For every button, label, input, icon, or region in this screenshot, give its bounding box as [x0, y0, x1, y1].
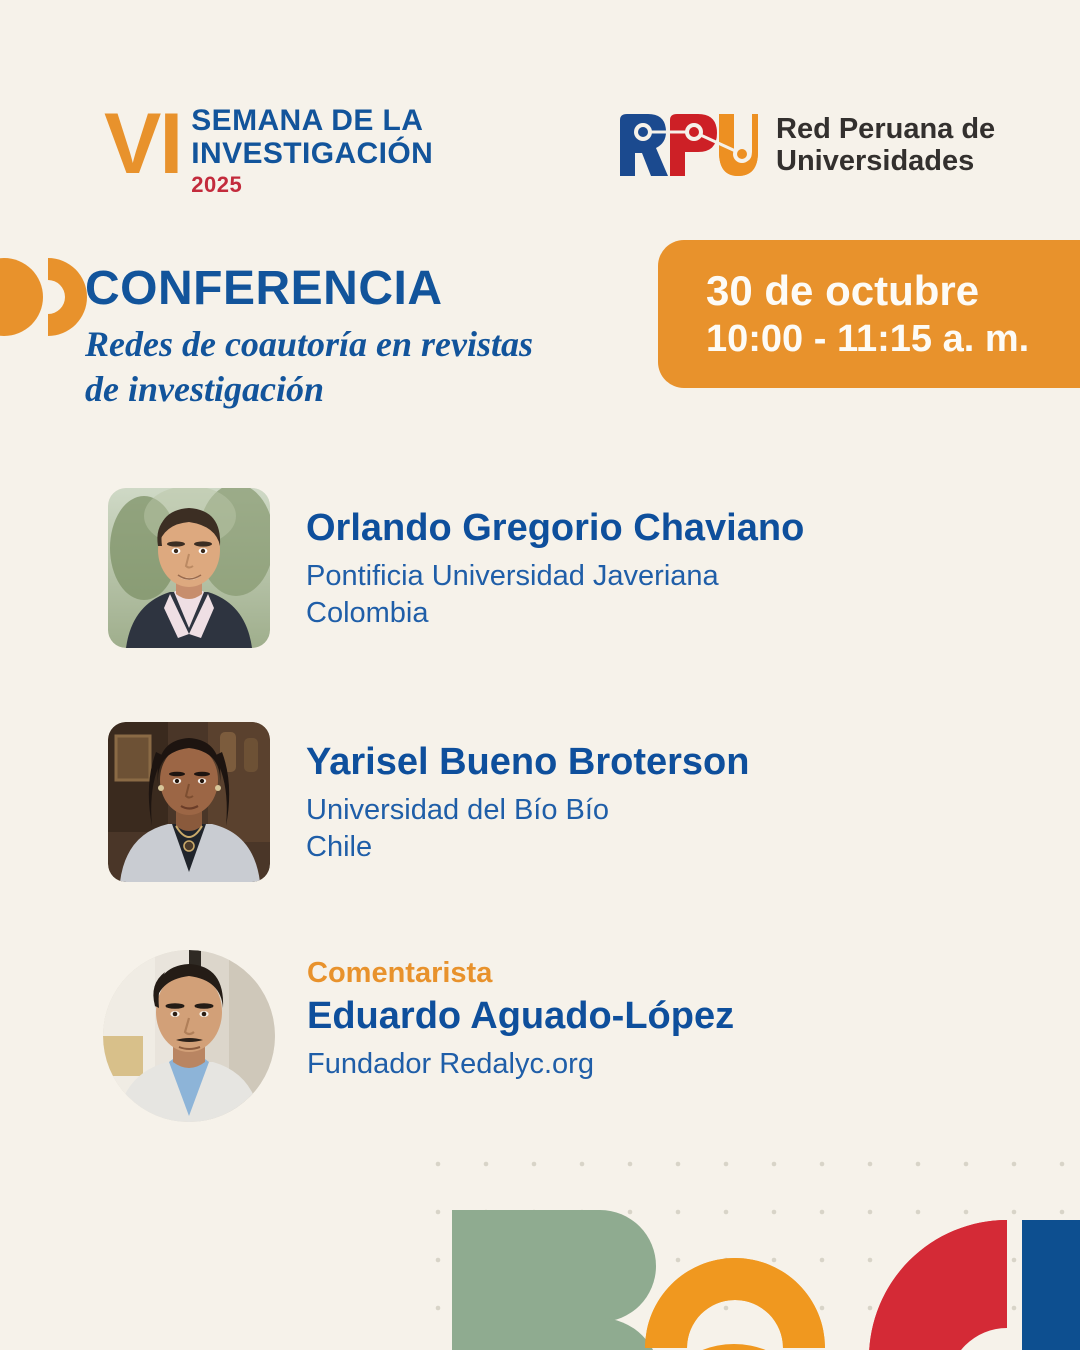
speaker-name: Eduardo Aguado-López: [307, 994, 734, 1038]
rpu-name: Red Peruana de Universidades: [776, 113, 995, 177]
speaker-affiliation-line1: Universidad del Bío Bío: [306, 792, 749, 829]
session-topic: Redes de coautoría en revistas de invest…: [85, 322, 555, 412]
event-title-line1: SEMANA DE LA: [191, 104, 433, 137]
speaker-affiliation-line2: Colombia: [306, 595, 804, 632]
session-time: 10:00 - 11:15 a. m.: [706, 316, 1080, 362]
red-shape: [869, 1220, 1007, 1350]
speaker-info: Comentarista Eduardo Aguado-López Fundad…: [307, 950, 734, 1083]
event-logo-text: SEMANA DE LA INVESTIGACIÓN 2025: [191, 104, 433, 198]
speaker-affiliation: Universidad del Bío Bío Chile: [306, 792, 749, 866]
speaker-name: Orlando Gregorio Chaviano: [306, 506, 804, 550]
speaker-affiliation: Pontificia Universidad Javeriana Colombi…: [306, 558, 804, 632]
rpu-logo: Red Peruana de Universidades: [618, 112, 995, 178]
rpu-monogram-icon: [618, 112, 760, 178]
poster-canvas: VI SEMANA DE LA INVESTIGACIÓN 2025: [0, 0, 1080, 1350]
event-title-line2: INVESTIGACIÓN: [191, 137, 433, 170]
rpu-name-line1: Red Peruana de: [776, 113, 995, 145]
speaker-card: Yarisel Bueno Broterson Universidad del …: [108, 722, 749, 882]
session-date: 30 de octubre: [706, 266, 1080, 316]
rpu-name-line2: Universidades: [776, 145, 995, 177]
speaker-photo: [103, 950, 275, 1122]
orange-circle-decoration-icon: [0, 258, 96, 336]
event-edition-numeral: VI: [104, 106, 181, 182]
speaker-affiliation-line1: Pontificia Universidad Javeriana: [306, 558, 804, 595]
speaker-photo: [108, 488, 270, 648]
event-logo: VI SEMANA DE LA INVESTIGACIÓN 2025: [104, 104, 433, 198]
orange-shape: [645, 1258, 825, 1350]
speaker-affiliation-line1: Fundador Redalyc.org: [307, 1046, 734, 1083]
speaker-card: Comentarista Eduardo Aguado-López Fundad…: [103, 950, 734, 1122]
session-kind: CONFERENCIA: [85, 262, 555, 316]
speaker-info: Orlando Gregorio Chaviano Pontificia Uni…: [306, 488, 804, 632]
speaker-role: Comentarista: [307, 956, 734, 990]
session-heading-block: CONFERENCIA Redes de coautoría en revist…: [85, 262, 555, 412]
speaker-info: Yarisel Bueno Broterson Universidad del …: [306, 722, 749, 866]
bottom-decoration-graphic: [0, 1130, 1080, 1350]
green-shape: [452, 1210, 660, 1350]
speaker-card: Orlando Gregorio Chaviano Pontificia Uni…: [108, 488, 804, 648]
speaker-affiliation-line2: Chile: [306, 829, 749, 866]
speaker-photo: [108, 722, 270, 882]
date-time-badge: 30 de octubre 10:00 - 11:15 a. m.: [658, 240, 1080, 388]
speaker-affiliation: Fundador Redalyc.org: [307, 1046, 734, 1083]
event-year: 2025: [191, 172, 433, 198]
blue-shape: [1022, 1220, 1080, 1350]
speaker-name: Yarisel Bueno Broterson: [306, 740, 749, 784]
